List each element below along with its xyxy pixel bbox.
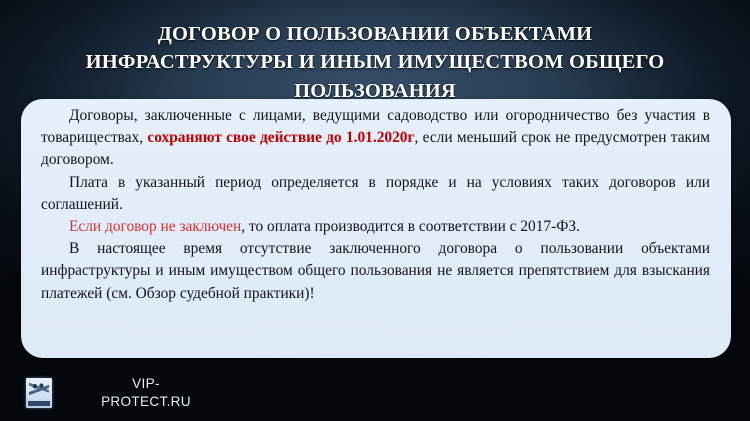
paragraph-1-highlight: сохраняют свое действие до 1.01.2020г <box>147 129 414 146</box>
logo-figure-icon <box>29 381 49 400</box>
content-card: Договоры, заключенные с лицами, ведущими… <box>21 99 731 358</box>
body-paragraph-3: Если договор не заключен, то оплата прои… <box>41 216 710 238</box>
slide-title-line-1: ДОГОВОР О ПОЛЬЗОВАНИИ ОБЪЕКТАМИ <box>0 20 750 49</box>
watermark-line-2: PROTECT.RU <box>56 393 236 411</box>
slide-title: ДОГОВОР О ПОЛЬЗОВАНИИ ОБЪЕКТАМИ ИНФРАСТР… <box>0 20 750 106</box>
paragraph-3-highlight: Если договор не заключен <box>69 218 241 235</box>
paragraph-3-text-after: , то оплата производится в соответствии … <box>241 218 580 235</box>
presentation-slide: ДОГОВОР О ПОЛЬЗОВАНИИ ОБЪЕКТАМИ ИНФРАСТР… <box>0 0 750 421</box>
slide-title-line-3: ПОЛЬЗОВАНИЯ <box>0 77 750 106</box>
body-paragraph-1: Договоры, заключенные с лицами, ведущими… <box>41 105 710 172</box>
watermark-text: VIP- PROTECT.RU <box>52 375 236 411</box>
slide-title-line-2: ИНФРАСТРУКТУРЫ И ИНЫМ ИМУЩЕСТВОМ ОБЩЕГО <box>0 48 750 77</box>
body-paragraph-2: Плата в указанный период определяется в … <box>41 172 710 216</box>
vip-protect-logo-icon <box>26 378 52 408</box>
watermark-line-1: VIP- <box>56 375 236 393</box>
watermark: VIP- PROTECT.RU <box>26 368 236 418</box>
logo-caption-bar <box>28 401 50 406</box>
body-paragraph-4: В настоящее время отсутствие заключенног… <box>41 238 710 305</box>
